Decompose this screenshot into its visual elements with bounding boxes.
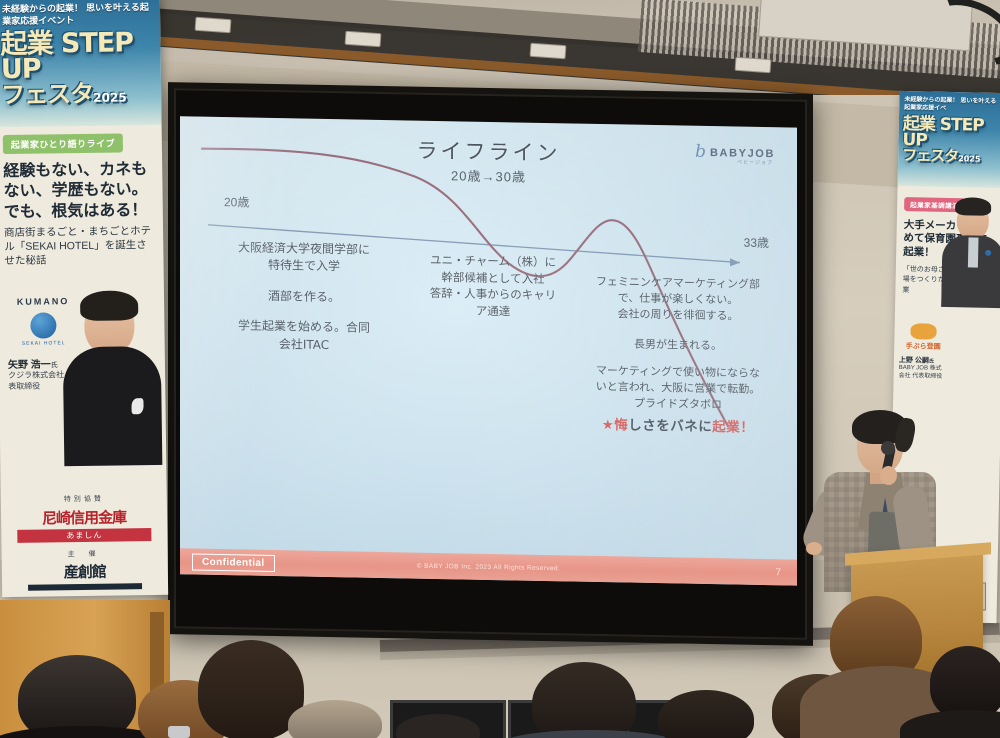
track-light-icon (345, 31, 382, 47)
photo-torso (63, 346, 163, 466)
highlight-red-2: 起業！ (712, 419, 754, 436)
projection-screen: ライフライン 20歳→30歳 b BABYJOB ベビージョブ 20歳 33歳 … (168, 82, 813, 646)
photo-hair (80, 290, 138, 321)
audience-head (930, 646, 1000, 720)
babyjob-logo-subtext: ベビージョブ (737, 159, 773, 167)
hair-clip-icon (168, 726, 190, 738)
photo-shirt (968, 237, 979, 267)
star-icon: ★ (602, 417, 615, 433)
sponsor-label: 特別協賛 (1, 493, 167, 505)
banner-right-brand-text: 手ぶら登園 (899, 341, 947, 352)
audience-head (532, 662, 636, 738)
microphone-head-icon (881, 441, 895, 455)
banner-left-logo-line1: 起業 STEP UP (0, 27, 133, 85)
lapel-pin-icon (985, 250, 991, 256)
annotation-left: 大阪経済大学夜間学部に 特待生で入学 酒部を作る。 学生起業を始める。合同 会社… (204, 239, 404, 356)
annotation-middle: ユニ・チャーム（株）に 幹部候補として入社 答辞・人事からのキャリ ア通達 (398, 251, 588, 321)
banner-right-logo-line2: フェスタ2025 (902, 149, 1000, 165)
hoodie-emblem-icon (131, 398, 143, 414)
banner-left-logo-line2: フェスタ2025 (1, 82, 157, 106)
tebura-tougen-icon (910, 323, 936, 340)
banner-right-event-logo: 起業 STEP UP フェスタ2025 (902, 117, 1000, 165)
host-logo-bar (28, 583, 142, 591)
highlight-red-1: 悔 (614, 417, 628, 433)
banner-left-header: 未経験からの起業！ 思いを叶える起業家応援イベント 起業 STEP UP フェス… (0, 0, 162, 127)
banner-left-badge: 起業家ひとり語りライブ (3, 133, 123, 154)
banner-left: 未経験からの起業！ 思いを叶える起業家応援イベント 起業 STEP UP フェス… (0, 0, 168, 597)
sekai-hotel-orb-icon (30, 312, 56, 338)
banner-left-speaker-photo (58, 290, 165, 466)
banner-right-year: 2025 (958, 154, 980, 163)
annotation-right: フェミニンケアマーケティング部 で、仕事が楽しくない。 会社の周りを徘徊する。 … (578, 274, 778, 355)
speaker-left-hand (806, 542, 822, 555)
banner-right-logo-line1: 起業 STEP UP (902, 114, 984, 150)
track-light-icon (735, 57, 772, 73)
annotation-line: ア通達 (398, 301, 588, 321)
banner-left-speaker-honorific: 氏 (51, 362, 58, 369)
host-label: 主 催 (2, 548, 168, 560)
banner-left-sponsors: 特別協賛 尼崎信用金庫 あましん 主 催 産創館 (1, 493, 168, 591)
banner-right-kicker: 未経験からの起業！ 思いを叶える起業家応援イベ (904, 96, 1000, 114)
photo-scene: ライフライン 20歳→30歳 b BABYJOB ベビージョブ 20歳 33歳 … (0, 0, 1000, 738)
banner-right-speaker-honorific: 氏 (929, 359, 934, 365)
banner-left-body: 起業家ひとり語りライブ 経験もない、カネもない、学歴もない。でも、根気はある！ … (0, 125, 164, 269)
sponsor-name: 尼崎信用金庫 (7, 506, 161, 529)
banner-right-speaker-org: BABY JOB 株式会社 代表取締役 (898, 365, 946, 382)
annotation-bottom: マーケティングで使い物にならな いと言われ、大阪に営業で転勤。 プライドズタボロ… (578, 363, 778, 439)
annotation-line: 会社ITAC (204, 334, 404, 355)
photo-hair (955, 197, 991, 216)
banner-left-headline: 経験もない、カネもない、学歴もない。でも、根気はある！ (3, 159, 156, 223)
track-light-icon (195, 17, 232, 33)
chart-axis-arrowhead (730, 258, 740, 266)
host-name: 産創館 (2, 560, 168, 583)
sponsor-band: あましん (17, 528, 151, 543)
annotation-highlight: ★悔しさをバネに起業！ (578, 415, 778, 438)
banner-left-subtext: 商店街まるごと・まちごとホテル「SEKAI HOTEL」を誕生させた秘話 (4, 225, 157, 269)
page-number: 7 (775, 567, 781, 578)
banner-right-header: 未経験からの起業！ 思いを叶える起業家応援イベ 起業 STEP UP フェスタ2… (898, 91, 1000, 188)
track-light-icon (530, 43, 567, 59)
banner-left-year: 2025 (93, 90, 127, 104)
banner-right-speaker-photo (941, 197, 1000, 308)
babyjob-logo-mark: b (695, 144, 706, 161)
axis-end-label: 33歳 (744, 234, 769, 251)
banner-left-event-logo: 起業 STEP UP フェスタ2025 (0, 31, 157, 106)
presentation-slide: ライフライン 20歳→30歳 b BABYJOB ベビージョブ 20歳 33歳 … (180, 116, 797, 585)
speaker-right-hand (880, 466, 897, 485)
highlight-black: しさをバネに (628, 417, 712, 435)
banner-left-kicker: 未経験からの起業！ 思いを叶える起業家応援イベント (2, 2, 154, 28)
axis-start-label: 20歳 (224, 193, 249, 210)
banner-right-brand-block: 手ぶら登園 上野 公嗣氏 BABY JOB 株式会社 代表取締役 (898, 323, 947, 382)
